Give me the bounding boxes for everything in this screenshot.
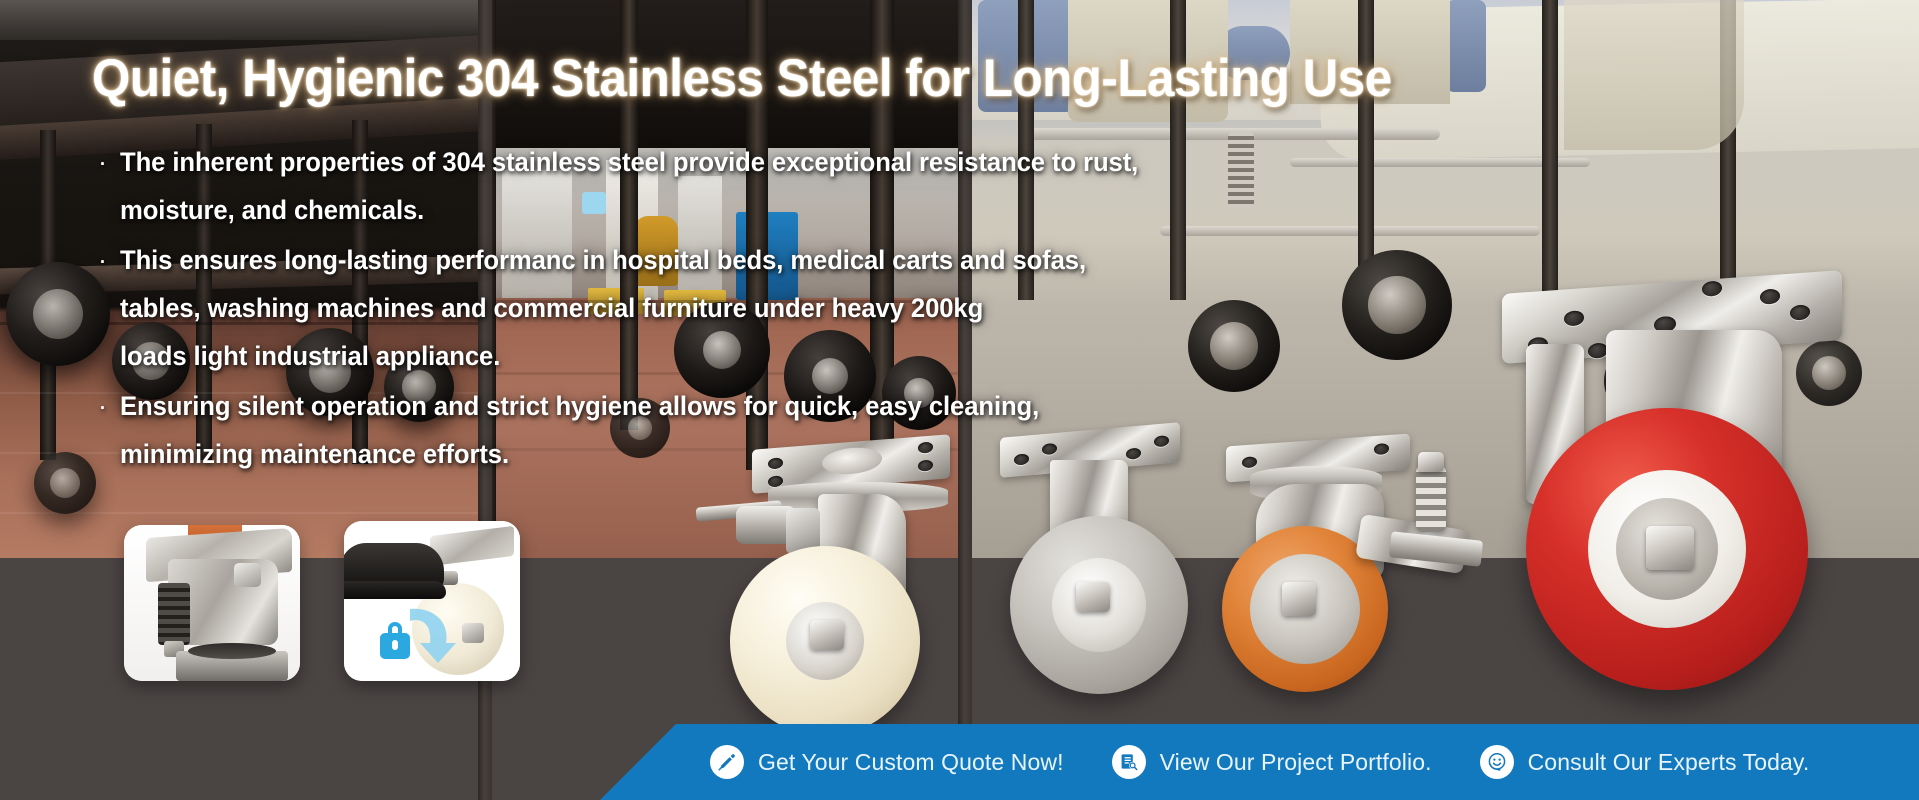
thumbnail-card-foot-brake[interactable] [344,521,520,681]
spring-detail [158,583,190,645]
support-smiley-icon [1480,745,1514,779]
cta-label: View Our Project Portfolio. [1160,751,1432,774]
list-item: · The inherent properties of 304 stainle… [98,138,1192,234]
cta-label: Consult Our Experts Today. [1528,751,1810,774]
bullet-marker-icon: · [98,382,120,430]
document-search-icon [1112,745,1146,779]
product-swivel-caster-orange-spring [1240,440,1520,710]
bullet-line: This ensures long-lasting performanc in … [120,236,1086,284]
feature-bullet-list: · The inherent properties of 304 stainle… [98,138,1192,480]
bullet-line: loads light industrial appliance. [120,332,1086,380]
spring-detail [1416,466,1446,532]
list-item: · This ensures long-lasting performanc i… [98,236,1192,380]
quote-pencil-icon [710,745,744,779]
cta-consult-experts[interactable]: Consult Our Experts Today. [1480,745,1810,779]
product-rigid-caster-gray [1000,430,1260,710]
product-rigid-caster-red [1488,282,1888,702]
product-swivel-caster-nylon [700,442,1020,732]
cta-view-portfolio[interactable]: View Our Project Portfolio. [1112,745,1432,779]
thumbnail-card-bracket[interactable] [124,525,300,681]
bullet-marker-icon: · [98,236,120,284]
bullet-marker-icon: · [98,138,120,186]
page-title: Quiet, Hygienic 304 Stainless Steel for … [92,48,1392,109]
product-hero-banner: Quiet, Hygienic 304 Stainless Steel for … [0,0,1919,800]
bullet-line: tables, washing machines and commercial … [120,284,1086,332]
cta-bar: Get Your Custom Quote Now! View O [600,724,1919,800]
bullet-line: Ensuring silent operation and strict hyg… [120,382,1039,430]
cta-label: Get Your Custom Quote Now! [758,751,1064,774]
bullet-line: The inherent properties of 304 stainless… [120,138,1138,186]
lock-icon [380,633,410,659]
bullet-text: This ensures long-lasting performanc in … [120,236,1086,380]
bullet-text: The inherent properties of 304 stainless… [120,138,1138,234]
bullet-line: moisture, and chemicals. [120,186,1138,234]
cta-get-quote[interactable]: Get Your Custom Quote Now! [710,745,1064,779]
